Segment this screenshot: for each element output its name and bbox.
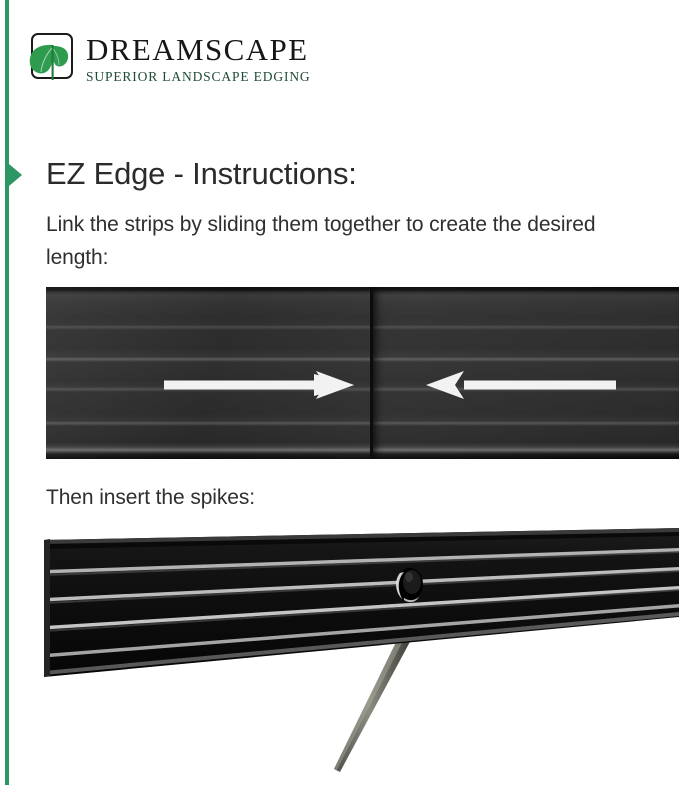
page-title: EZ Edge - Instructions:: [46, 156, 357, 192]
ground-spike-icon: [334, 632, 412, 772]
arrow-right-icon: [164, 365, 354, 405]
figure-linked-strips: [46, 287, 679, 459]
figure-spike-insert: [38, 522, 679, 777]
strip-seam: [370, 287, 373, 459]
right-triangle-marker-icon: [9, 164, 22, 186]
edging-strip-body: [44, 528, 679, 677]
step-one-text: Link the strips by sliding them together…: [46, 208, 646, 274]
left-accent-rail: [5, 0, 9, 785]
arrow-left-icon: [426, 365, 616, 405]
brand-wordmark: DREAMSCAPE SUPERIOR LANDSCAPE EDGING: [86, 31, 311, 84]
brand-name: DREAMSCAPE: [86, 34, 311, 65]
leaf-logo-icon: [24, 31, 76, 83]
step-two-text: Then insert the spikes:: [46, 483, 255, 513]
brand-logo: DREAMSCAPE SUPERIOR LANDSCAPE EDGING: [24, 31, 311, 87]
brand-tagline: SUPERIOR LANDSCAPE EDGING: [86, 70, 311, 84]
